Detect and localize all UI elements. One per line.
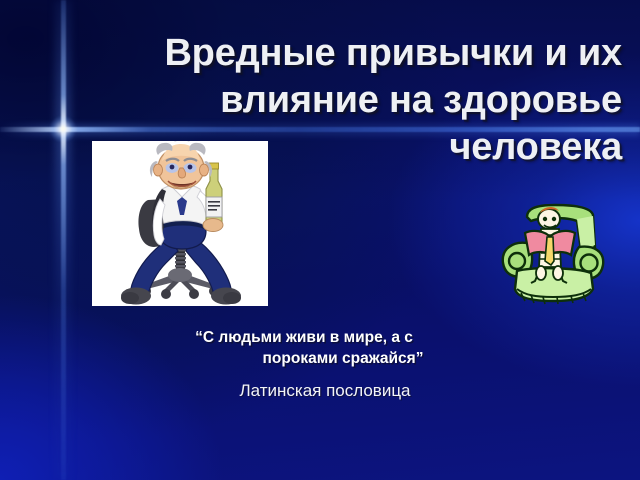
page-title-line-2: влияние на здоровье xyxy=(74,77,622,124)
presentation-slide: Вредные привычки и их влияние на здоровь… xyxy=(0,0,640,480)
armchair-reader-clipart xyxy=(497,203,611,307)
quote-line-1: “С людьми живи в мире, а с xyxy=(120,327,530,348)
quote-text: “С людьми живи в мире, а с пороками сраж… xyxy=(120,327,530,369)
lens-flare-vertical-ray xyxy=(61,0,66,480)
skeleton-reading-book-in-green-armchair-icon xyxy=(497,203,611,307)
page-title-line-1: Вредные привычки и их xyxy=(74,30,622,77)
quote-line-2: пороками сражайся” xyxy=(120,348,530,369)
lens-flare-star-icon xyxy=(50,116,76,142)
drunk-man-illustration xyxy=(92,141,268,306)
drunk-man-on-office-chair-icon xyxy=(92,141,268,306)
quote-attribution: Латинская пословица xyxy=(120,381,530,401)
